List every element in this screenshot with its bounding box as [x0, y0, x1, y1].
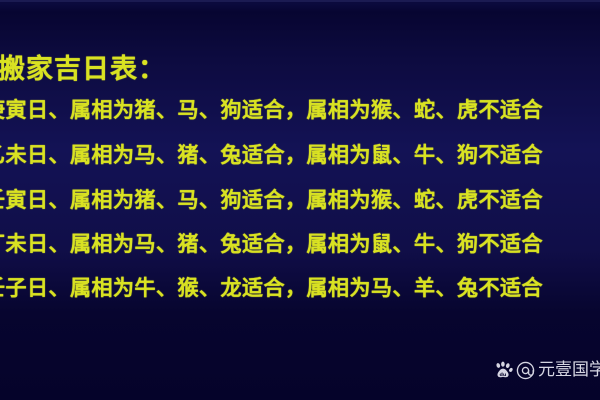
almanac-line: 壬子日、属相为牛、猴、龙适合，属相为马、羊、兔不适合 [0, 272, 543, 302]
baidu-paw-du-label: du [500, 372, 507, 378]
almanac-line: 壬寅日、属相为猪、马、狗适合，属相为猴、蛇、虎不适合 [0, 184, 543, 214]
almanac-line: 丁未日、属相为马、猪、兔适合，属相为鼠、牛、狗不适合 [0, 228, 543, 258]
poster-canvas: 份搬家吉日表： 庚寅日、属相为猪、马、狗适合，属相为猴、蛇、虎不适合 乙未日、属… [0, 0, 600, 400]
baidu-paw-icon: du [494, 361, 513, 380]
poster-content: 份搬家吉日表： 庚寅日、属相为猪、马、狗适合，属相为猴、蛇、虎不适合 乙未日、属… [0, 0, 600, 400]
at-symbol-icon [516, 361, 535, 380]
almanac-line: 庚寅日、属相为猪、马、狗适合，属相为猴、蛇、虎不适合 [0, 94, 543, 124]
page-title: 份搬家吉日表： [0, 47, 166, 86]
watermark: du 元壹国学 [494, 361, 600, 380]
almanac-line: 乙未日、属相为马、猪、兔适合，属相为鼠、牛、狗不适合 [0, 139, 543, 169]
watermark-handle: 元壹国学 [538, 361, 600, 380]
